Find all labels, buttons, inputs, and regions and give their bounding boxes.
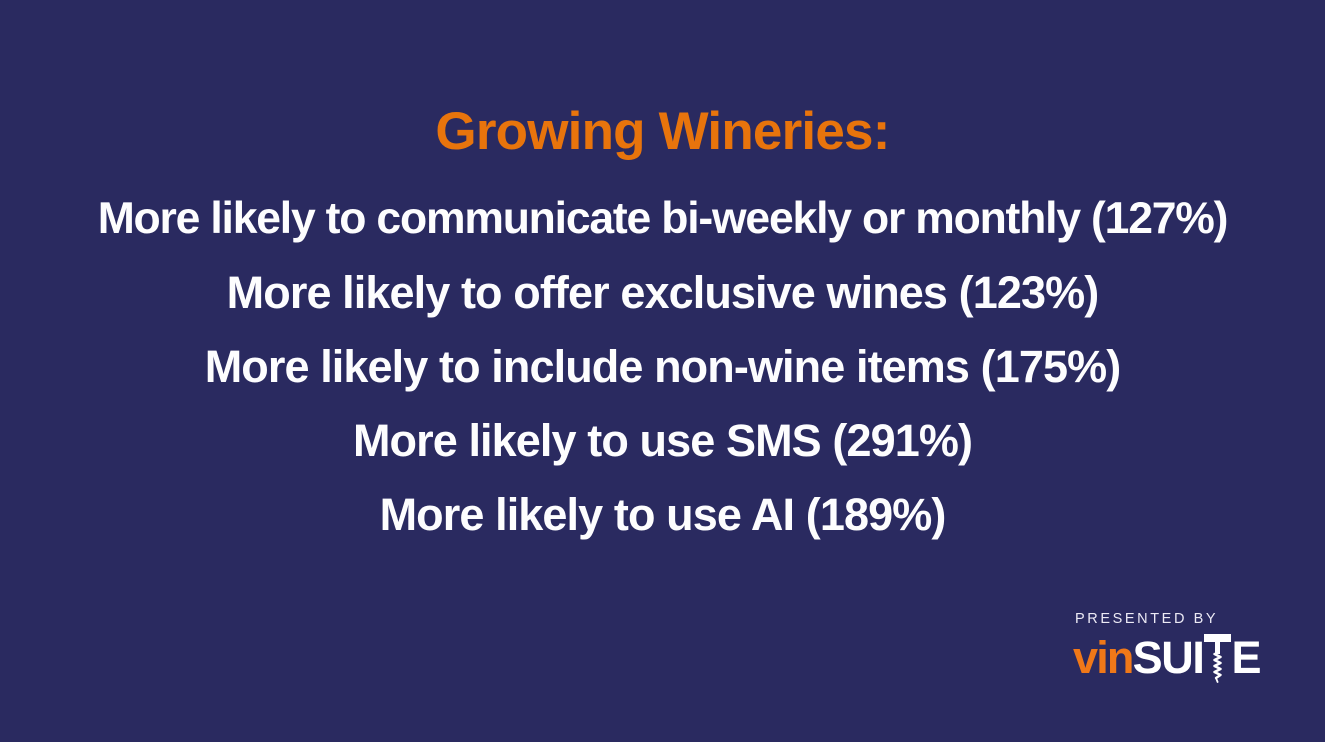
page-title: Growing Wineries: [0, 101, 1325, 163]
presented-by-label: PRESENTED BY [1075, 610, 1263, 628]
stat-list: More likely to communicate bi-weekly or … [0, 190, 1325, 560]
logo-text-vin: vin [1073, 636, 1133, 680]
list-item: More likely to offer exclusive wines (12… [0, 264, 1325, 338]
list-item: More likely to use SMS (291%) [0, 412, 1325, 486]
list-item: More likely to include non-wine items (1… [0, 338, 1325, 412]
logo-text-e: E [1231, 636, 1260, 680]
corkscrew-t-icon [1204, 636, 1231, 680]
brand-lockup: PRESENTED BY vin SUI E [1073, 610, 1263, 680]
logo-text-sui: SUI [1133, 636, 1204, 680]
slide-canvas: Growing Wineries: More likely to communi… [0, 0, 1325, 742]
list-item: More likely to communicate bi-weekly or … [0, 190, 1325, 264]
vinsuite-logo: vin SUI E [1073, 634, 1263, 680]
list-item: More likely to use AI (189%) [0, 486, 1325, 560]
